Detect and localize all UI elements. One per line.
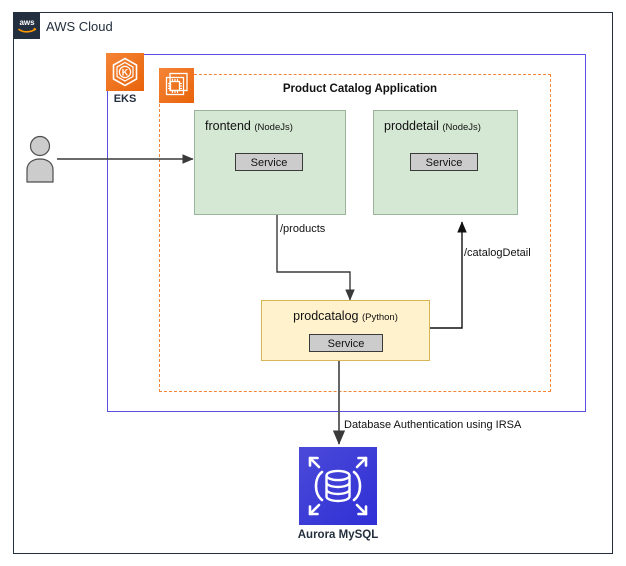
edge-label-database-auth: Database Authentication using IRSA	[344, 419, 521, 431]
service-name-frontend: frontend (NodeJs)	[205, 119, 293, 133]
user-icon	[24, 135, 56, 183]
service-title-proddetail: proddetail	[384, 119, 439, 133]
application-title: Product Catalog Application	[200, 83, 520, 95]
aurora-database-icon	[299, 447, 377, 525]
service-chip-frontend[interactable]: Service	[235, 153, 303, 171]
service-language-frontend: (NodeJs)	[254, 122, 293, 133]
service-box-prodcatalog-shell[interactable]: prodcatalog (Python) Service	[261, 300, 430, 361]
service-box-proddetail[interactable]: proddetail (NodeJs) Service	[373, 110, 518, 215]
edge-label-products: /products	[280, 223, 325, 235]
service-box-frontend[interactable]: frontend (NodeJs) Service	[194, 110, 346, 215]
service-name-prodcatalog: prodcatalog (Python)	[262, 309, 429, 323]
microservices-container-icon	[159, 68, 194, 103]
svg-text:aws: aws	[19, 18, 35, 27]
aws-cloud-label: AWS Cloud	[46, 19, 113, 34]
eks-kubernetes-icon: K	[106, 53, 144, 91]
service-language-prodcatalog: (Python)	[362, 312, 398, 323]
aurora-mysql-label: Aurora MySQL	[269, 529, 407, 541]
svg-text:K: K	[122, 68, 129, 78]
service-chip-proddetail[interactable]: Service	[410, 153, 478, 171]
aws-logo-icon: aws	[14, 13, 40, 39]
edge-label-catalog-detail: /catalogDetail	[464, 247, 531, 259]
service-chip-prodcatalog[interactable]: Service	[309, 334, 383, 352]
service-title-prodcatalog: prodcatalog	[293, 309, 358, 323]
service-title-frontend: frontend	[205, 119, 251, 133]
eks-label: EKS	[106, 93, 144, 105]
service-name-proddetail: proddetail (NodeJs)	[384, 119, 481, 133]
service-language-proddetail: (NodeJs)	[442, 122, 481, 133]
architecture-diagram: aws AWS Cloud K EKS	[0, 0, 626, 566]
